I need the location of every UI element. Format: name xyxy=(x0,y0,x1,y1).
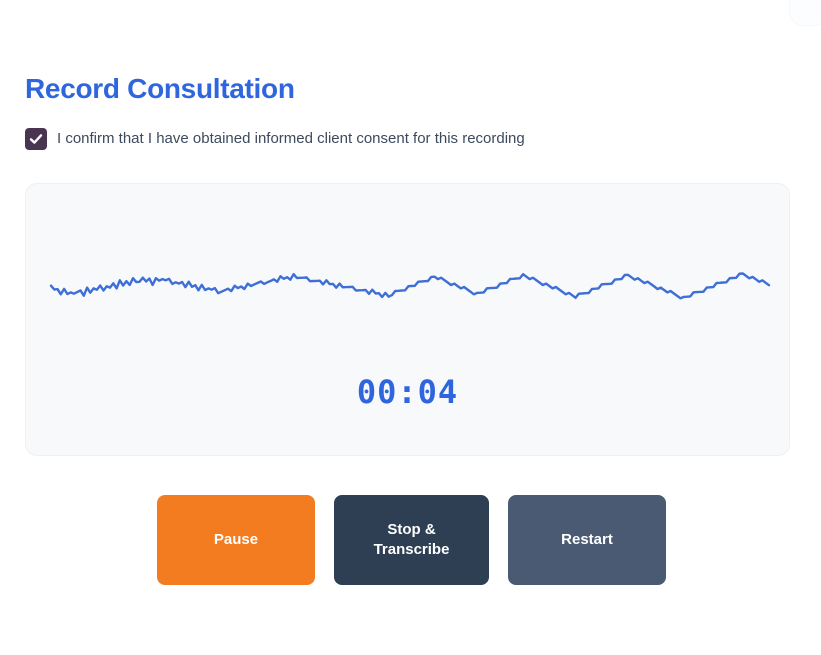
waveform-visualizer xyxy=(26,184,790,394)
recorder-card: 00:04 xyxy=(25,183,790,456)
restart-button-label: Restart xyxy=(561,530,613,550)
stop-transcribe-line-1: Stop & xyxy=(374,520,450,540)
stop-transcribe-button[interactable]: Stop & Transcribe xyxy=(334,495,489,585)
recording-timer: 00:04 xyxy=(26,372,789,412)
consent-row[interactable]: I confirm that I have obtained informed … xyxy=(25,126,525,152)
record-consultation-screen: Record Consultation I confirm that I hav… xyxy=(0,0,821,655)
check-icon xyxy=(29,132,43,146)
restart-button[interactable]: Restart xyxy=(508,495,666,585)
pause-button[interactable]: Pause xyxy=(157,495,315,585)
stop-transcribe-button-label: Stop & Transcribe xyxy=(374,520,450,560)
consent-checkbox[interactable] xyxy=(25,128,47,150)
recorder-controls: Pause Stop & Transcribe Restart xyxy=(157,495,666,585)
page-title: Record Consultation xyxy=(25,71,295,107)
page-card-corner xyxy=(789,0,821,26)
pause-button-label: Pause xyxy=(214,530,258,550)
stop-transcribe-line-2: Transcribe xyxy=(374,540,450,560)
audio-waveform-icon xyxy=(26,184,790,394)
consent-label[interactable]: I confirm that I have obtained informed … xyxy=(57,128,525,150)
